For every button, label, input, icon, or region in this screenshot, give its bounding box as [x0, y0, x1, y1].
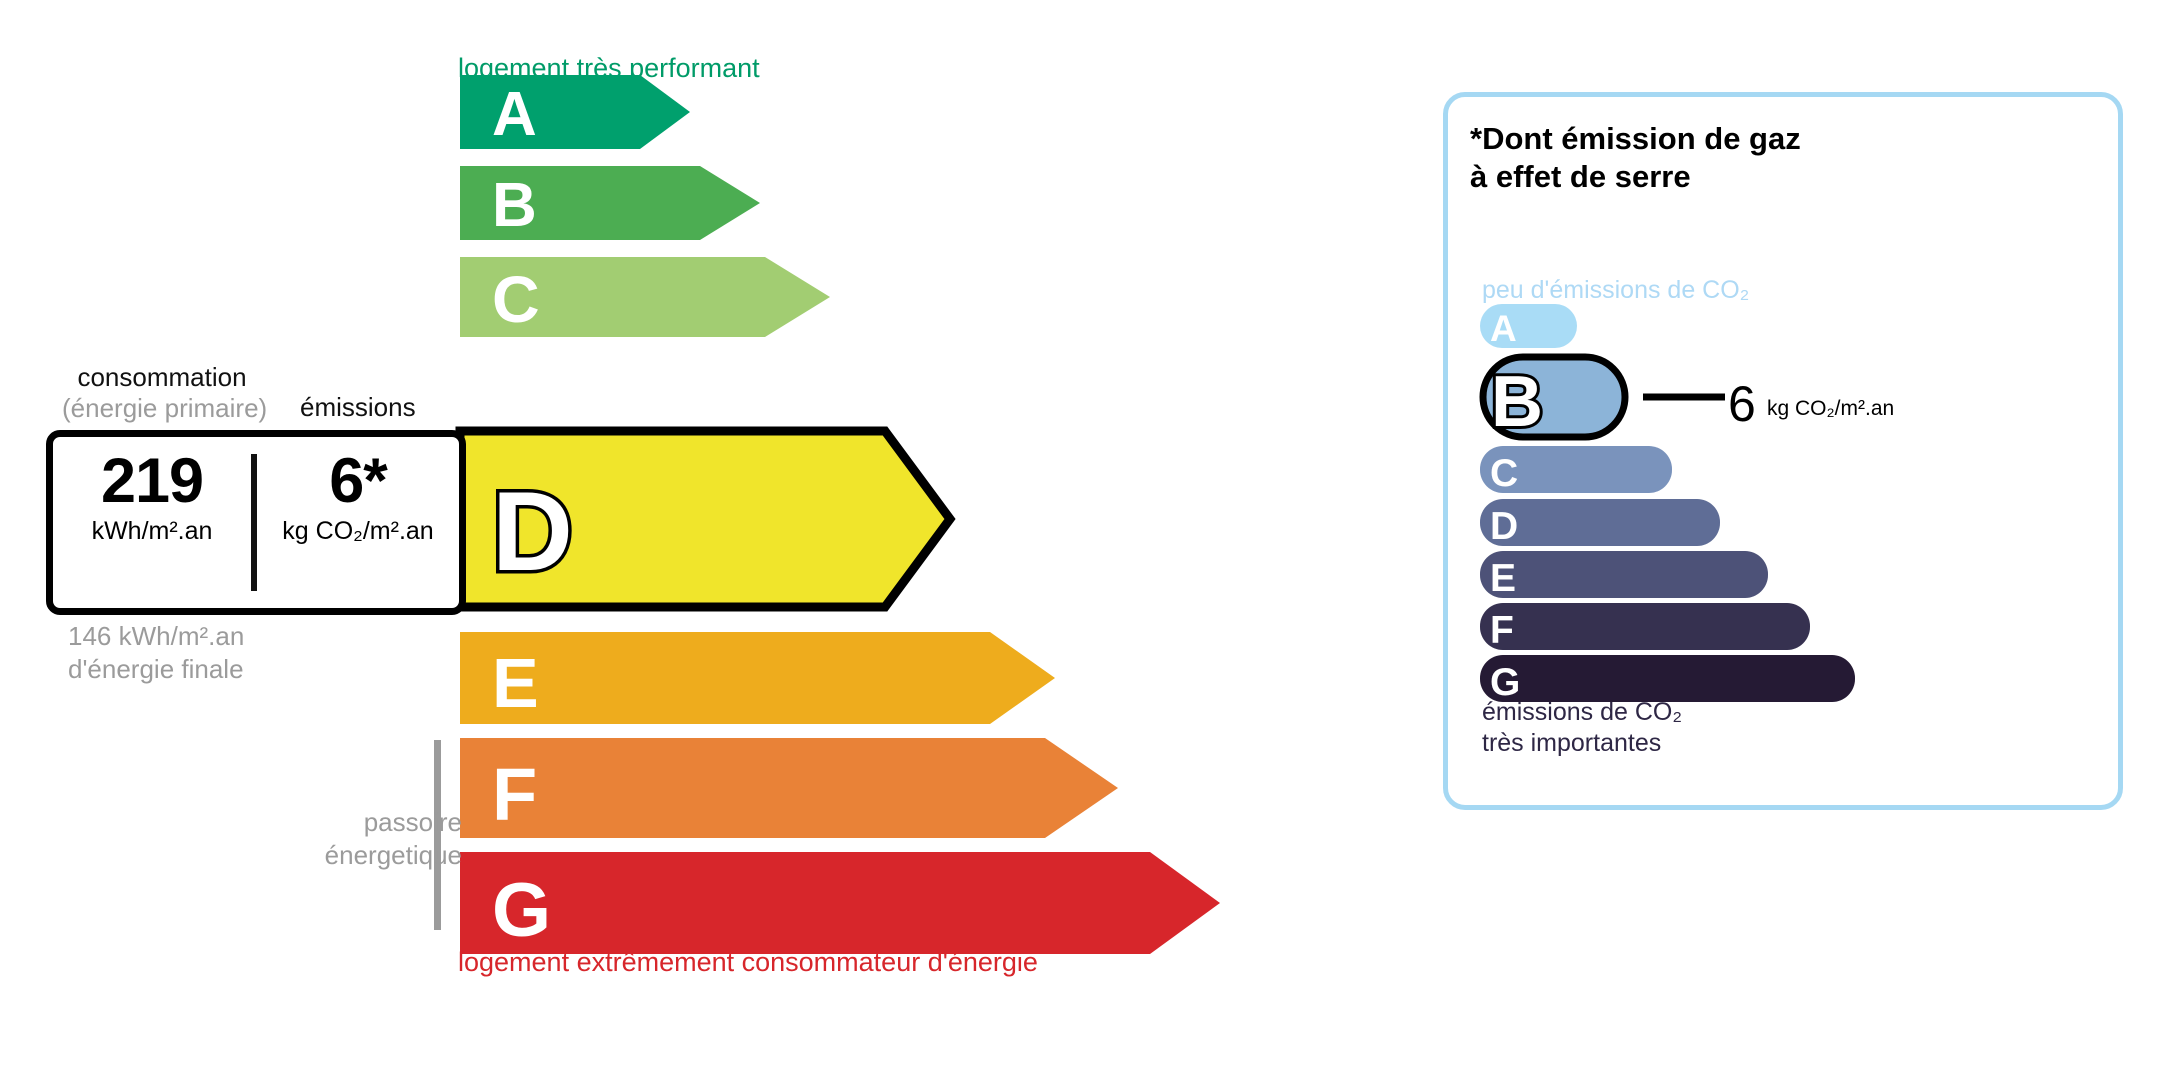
- co2-bar-f: [1480, 603, 1810, 650]
- energy-letter-g: G: [492, 868, 551, 953]
- emissions-value: 6*: [260, 448, 456, 515]
- consumption-cell: 219 kWh/m².an: [54, 448, 250, 546]
- co2-callout-unit: kg CO₂/m².an: [1767, 397, 1894, 421]
- energy-letter-c: C: [492, 262, 540, 336]
- dpe-diagram: logement très performant A B C D E: [0, 0, 2170, 1079]
- final-energy-note: 146 kWh/m².an d'énergie finale: [68, 620, 244, 687]
- co2-row-a[interactable]: A: [1480, 304, 1577, 349]
- co2-letter-c: C: [1490, 452, 1518, 495]
- energy-arrow-f: [460, 738, 1118, 838]
- energy-row-g[interactable]: G: [460, 852, 1220, 954]
- co2-letter-e: E: [1490, 557, 1516, 600]
- co2-row-d[interactable]: D: [1480, 499, 1720, 548]
- emissions-header: émissions: [300, 392, 416, 423]
- value-box-divider: [251, 454, 257, 591]
- co2-letter-a: A: [1490, 308, 1517, 349]
- co2-bar-g: [1480, 655, 1855, 702]
- co2-row-b-selected[interactable]: B: [1483, 357, 1725, 442]
- co2-row-f[interactable]: F: [1480, 603, 1810, 652]
- consumption-header: consommation (énergie primaire): [62, 362, 262, 424]
- co2-panel-title: *Dont émission de gaz à effet de serre: [1470, 120, 1801, 196]
- energy-letter-e: E: [492, 644, 539, 722]
- energy-bottom-label: logement extrêmement consommateur d'éner…: [458, 947, 1038, 978]
- co2-bottom-label: émissions de CO₂ très importantes: [1482, 697, 1682, 760]
- energy-row-a[interactable]: A: [460, 75, 690, 149]
- energy-letter-b: B: [492, 171, 537, 240]
- co2-letter-d: D: [1490, 505, 1518, 548]
- energy-letter-f: F: [492, 753, 537, 836]
- consumption-value: 219: [54, 448, 250, 515]
- energy-arrow-g: [460, 852, 1220, 954]
- emissions-unit: kg CO₂/m².an: [260, 517, 456, 546]
- passoire-label: passoire énergetique: [272, 806, 462, 873]
- co2-letter-b: B: [1491, 362, 1543, 442]
- co2-bars: A B C D E F G: [1480, 300, 2100, 700]
- energy-letter-d: D: [492, 469, 573, 594]
- consumption-header-title: consommation: [62, 362, 262, 393]
- emissions-cell: 6* kg CO₂/m².an: [260, 448, 456, 546]
- energy-row-c[interactable]: C: [460, 257, 830, 337]
- co2-row-e[interactable]: E: [1480, 551, 1768, 600]
- energy-letter-a: A: [492, 80, 537, 149]
- co2-row-c[interactable]: C: [1480, 446, 1672, 495]
- consumption-unit: kWh/m².an: [54, 517, 250, 546]
- energy-row-d-selected[interactable]: D: [460, 431, 950, 607]
- energy-arrow-e: [460, 632, 1055, 724]
- energy-row-e[interactable]: E: [460, 632, 1055, 724]
- co2-callout-value: 6: [1728, 375, 1756, 433]
- energy-row-b[interactable]: B: [460, 166, 760, 240]
- emissions-header-title: émissions: [300, 392, 416, 422]
- co2-bar-e: [1480, 551, 1768, 598]
- value-box[interactable]: 219 kWh/m².an 6* kg CO₂/m².an: [46, 430, 466, 615]
- energy-row-f[interactable]: F: [460, 738, 1118, 838]
- consumption-header-sub: (énergie primaire): [62, 393, 262, 424]
- co2-letter-f: F: [1490, 609, 1514, 652]
